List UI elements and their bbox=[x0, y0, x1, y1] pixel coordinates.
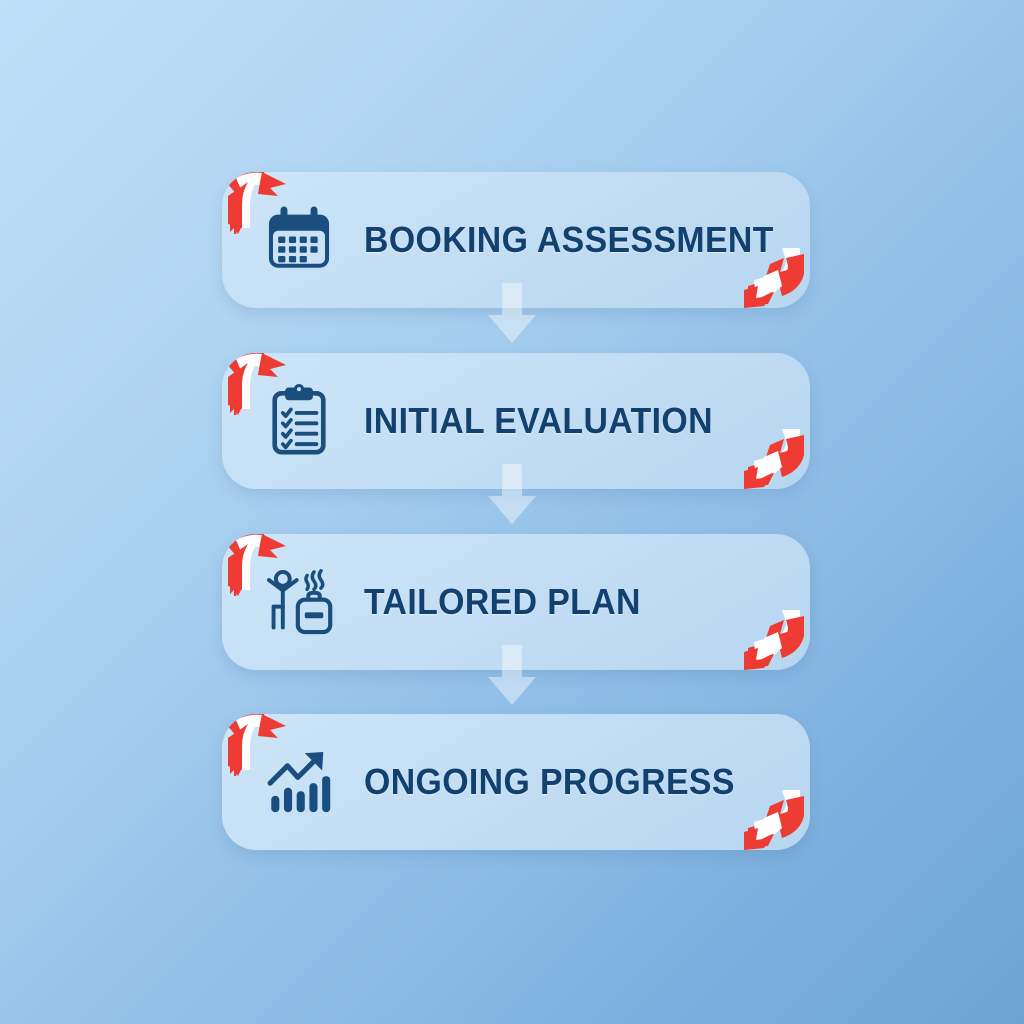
calendar-icon bbox=[260, 201, 338, 279]
flow-step-content-4: ONGOING PROGRESS bbox=[222, 714, 810, 850]
flow-step-card-2[interactable]: INITIAL EVALUATION bbox=[222, 353, 810, 489]
flow-step-content-2: INITIAL EVALUATION bbox=[222, 353, 810, 489]
growth-chart-icon bbox=[260, 743, 338, 821]
clipboard-checklist-icon bbox=[260, 382, 338, 460]
infographic-canvas: BOOKING ASSESSMENT bbox=[0, 0, 1024, 1024]
flow-step-content-1: BOOKING ASSESSMENT bbox=[222, 172, 810, 308]
flow-step-label-1: BOOKING ASSESSMENT bbox=[364, 219, 774, 261]
flow-step-label-2: INITIAL EVALUATION bbox=[364, 400, 713, 442]
flow-step-label-4: ONGOING PROGRESS bbox=[364, 761, 735, 803]
flow-step-label-3: TAILORED PLAN bbox=[364, 581, 641, 623]
flow-step-content-3: TAILORED PLAN bbox=[222, 534, 810, 670]
flow-step-card-3[interactable]: TAILORED PLAN bbox=[222, 534, 810, 670]
flow-step-card-1[interactable]: BOOKING ASSESSMENT bbox=[222, 172, 810, 308]
person-with-bag-icon bbox=[260, 563, 338, 641]
flow-step-card-4[interactable]: ONGOING PROGRESS bbox=[222, 714, 810, 850]
